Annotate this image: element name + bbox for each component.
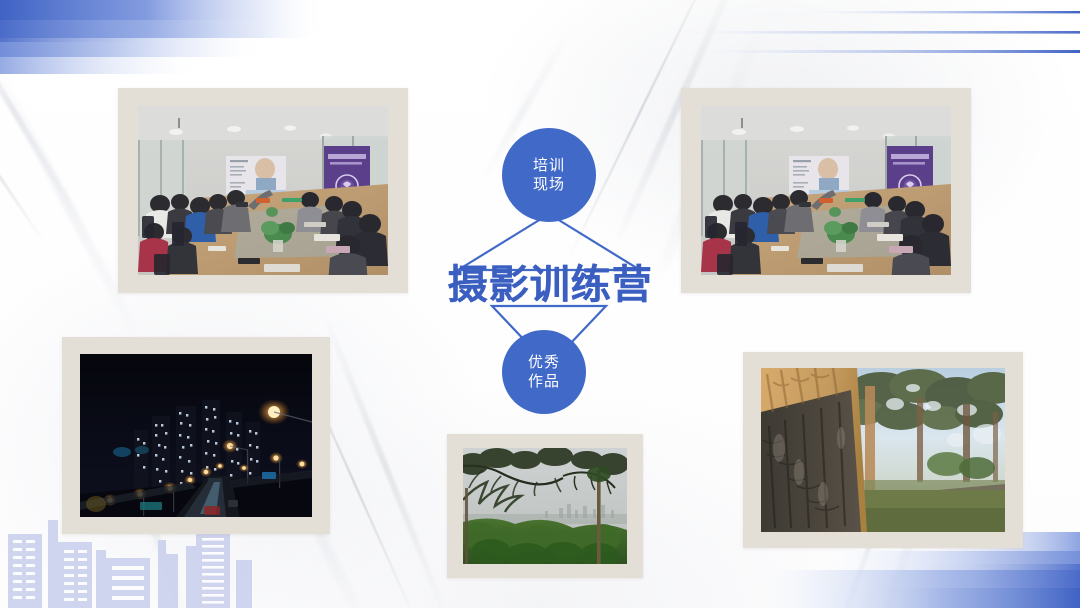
photo-tree-bark-closeup <box>761 368 1005 532</box>
top-right-accent-lines <box>660 0 1080 90</box>
presentation-slide: 培训 现场 摄影训练营 优秀 作品 <box>0 0 1080 608</box>
photo-frame-hazy-city-view <box>447 434 643 578</box>
node-training-line2: 现场 <box>533 175 565 194</box>
photo-training-room-left <box>138 106 388 275</box>
photo-frame-tree-bark <box>743 352 1023 548</box>
photo-hazy-city-view <box>463 448 627 564</box>
photo-frame-night-cityscape <box>62 337 330 534</box>
center-diagram: 培训 现场 摄影训练营 优秀 作品 <box>440 128 660 428</box>
node-training-line1: 培训 <box>533 156 565 175</box>
node-works-line2: 作品 <box>528 372 560 391</box>
photo-training-room-right <box>701 106 951 275</box>
photo-frame-training-left <box>118 88 408 293</box>
node-works-line1: 优秀 <box>528 353 560 372</box>
page-title: 摄影训练营 <box>424 252 676 310</box>
node-training-scene[interactable]: 培训 现场 <box>502 128 596 222</box>
photo-frame-training-right <box>681 88 971 293</box>
photo-night-cityscape <box>80 354 312 517</box>
node-excellent-works[interactable]: 优秀 作品 <box>502 330 586 414</box>
